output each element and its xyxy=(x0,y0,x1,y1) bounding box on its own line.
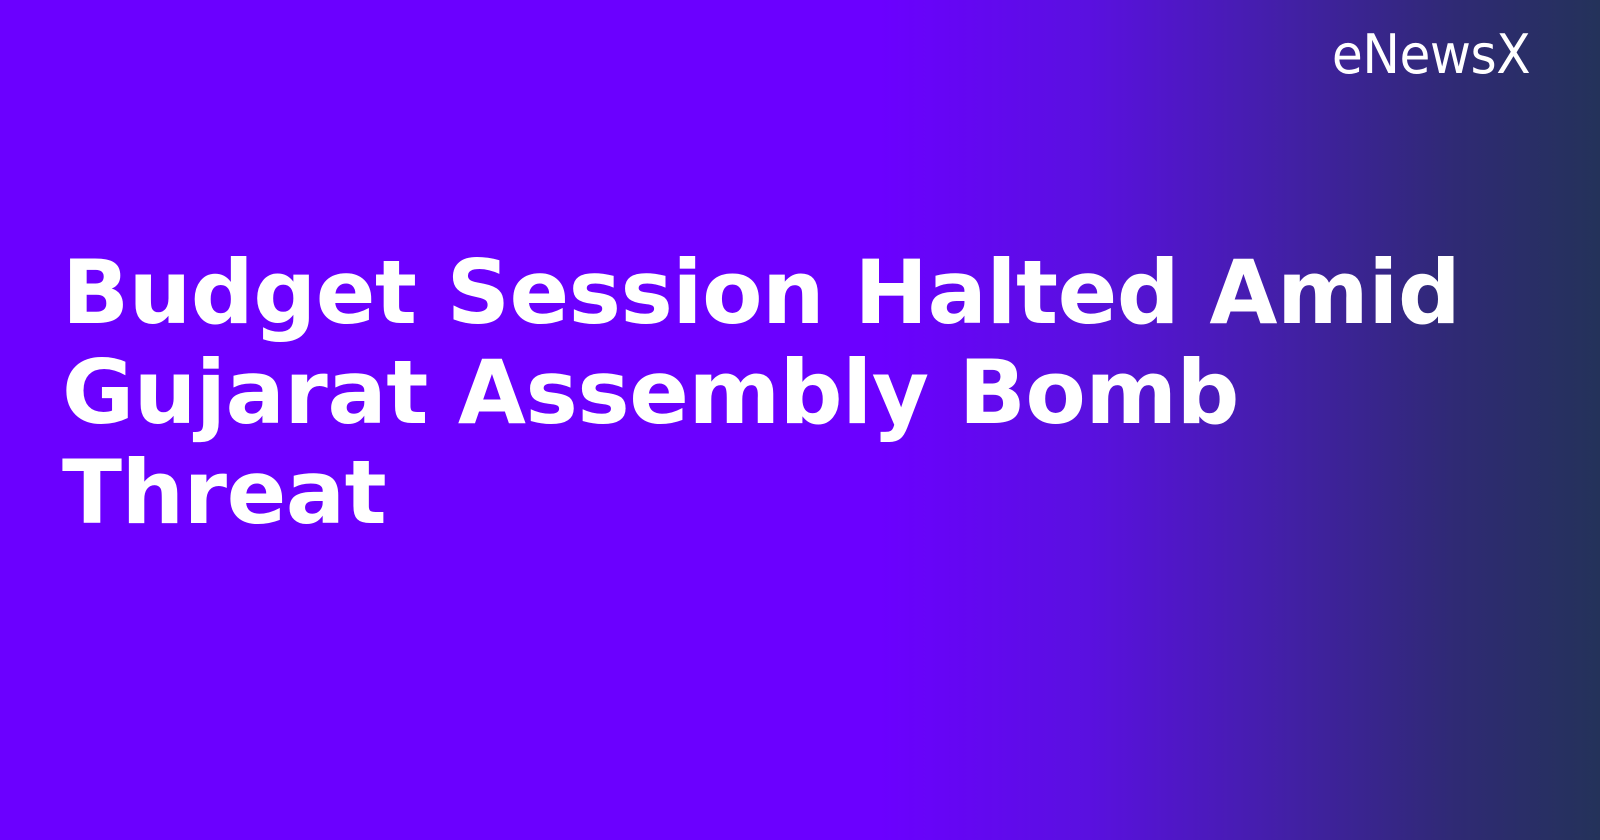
brand-logo[interactable]: eNewsX xyxy=(1317,28,1530,82)
news-share-card: eNewsX Budget Session Halted Amid Gujara… xyxy=(0,0,1600,840)
article-headline: Budget Session Halted Amid Gujarat Assem… xyxy=(62,243,1462,543)
headline-container: Budget Session Halted Amid Gujarat Assem… xyxy=(62,243,1462,543)
brand-wordmark-text: eNewsX xyxy=(1332,28,1530,82)
